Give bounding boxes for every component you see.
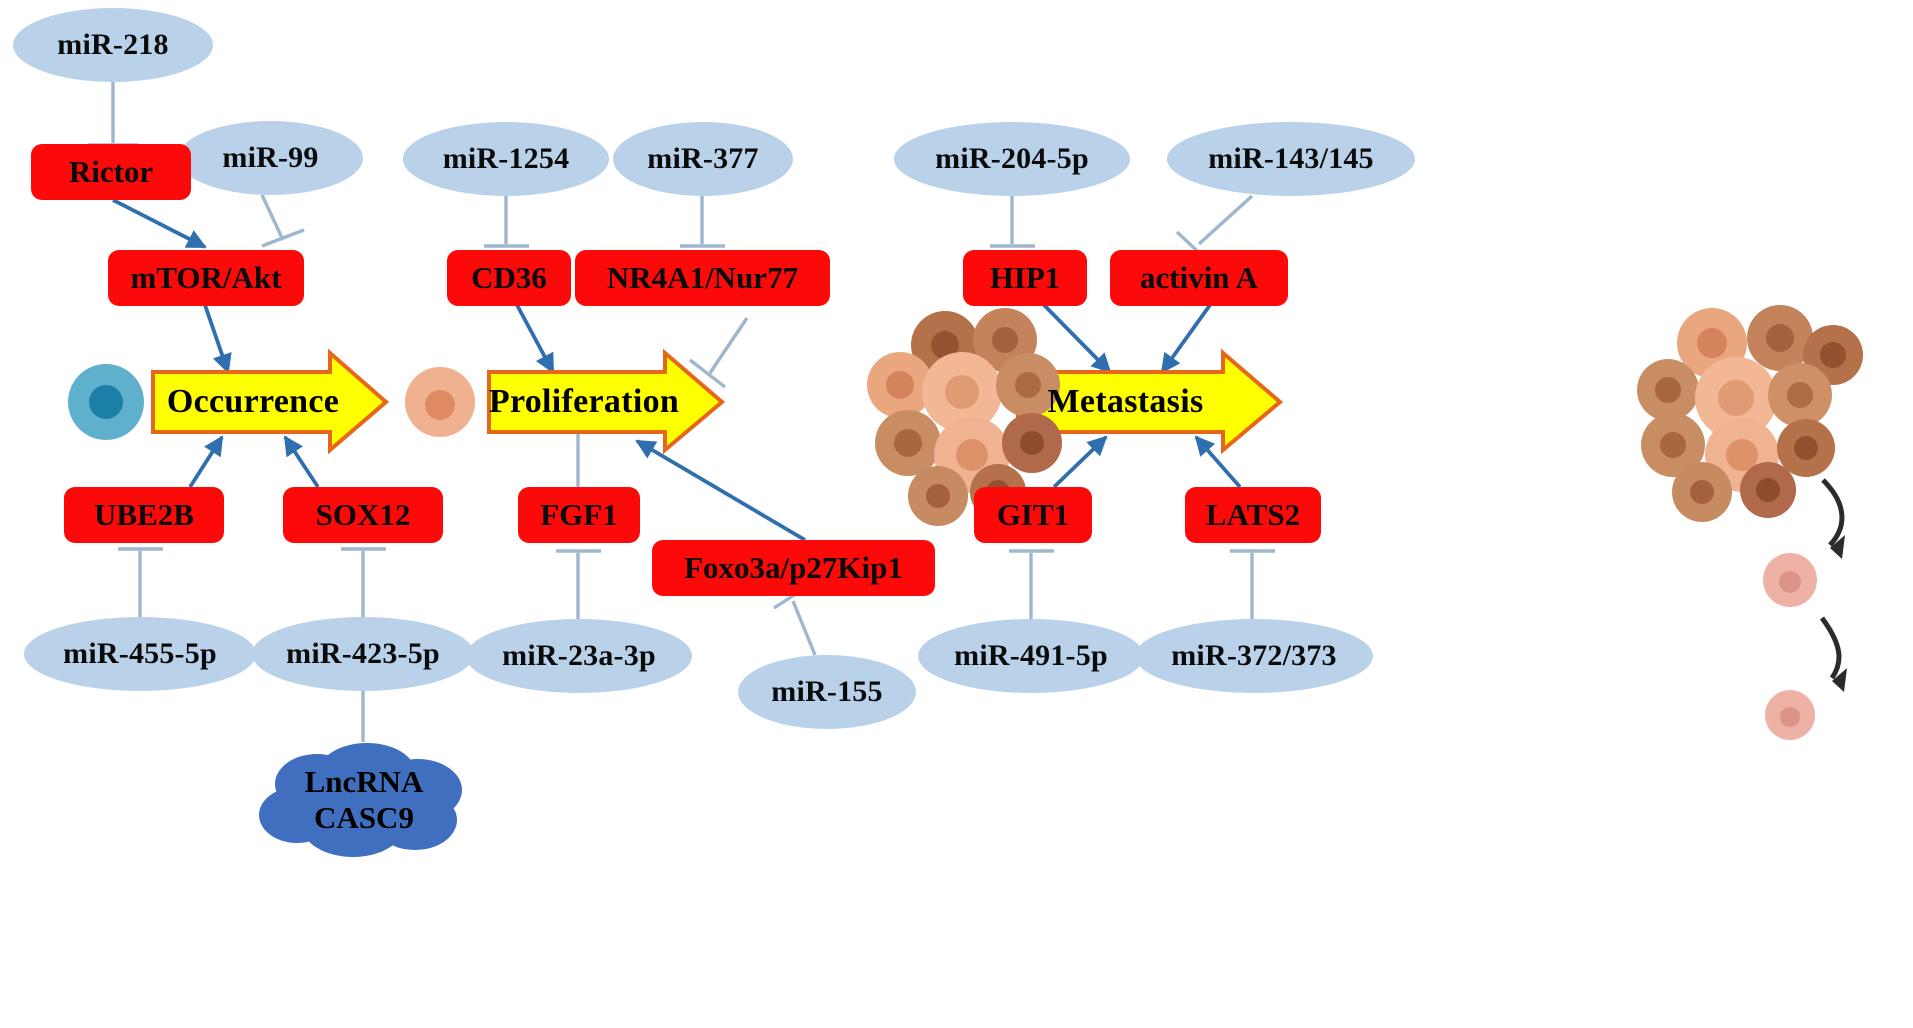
gene-label: LATS2 [1206, 499, 1300, 532]
gene-label: GIT1 [997, 499, 1069, 532]
mirna-mir-491-5p[interactable]: miR-491-5p [918, 619, 1144, 693]
mirna-label: miR-204-5p [935, 143, 1089, 175]
gene-foxo3a-p27kip1[interactable]: Foxo3a/p27Kip1 [652, 540, 935, 596]
mirna-mir-372-373[interactable]: miR-372/373 [1135, 619, 1373, 693]
process-proliferation[interactable]: Proliferation [489, 375, 679, 429]
mirna-mir-99[interactable]: miR-99 [178, 121, 363, 195]
mirna-mir-204-5p[interactable]: miR-204-5p [894, 122, 1130, 196]
gene-label: NR4A1/Nur77 [607, 262, 798, 295]
gene-label: SOX12 [316, 499, 411, 532]
gene-label: CD36 [471, 262, 547, 295]
gene-label: Rictor [69, 156, 153, 189]
mirna-mir-23a-3p[interactable]: miR-23a-3p [466, 619, 692, 693]
mirna-mir-1254[interactable]: miR-1254 [403, 122, 609, 196]
transformed-cell [405, 367, 475, 437]
gene-label: UBE2B [94, 499, 194, 532]
mirna-label: miR-1254 [443, 143, 570, 175]
gene-lats2[interactable]: LATS2 [1185, 487, 1321, 543]
mirna-label: miR-491-5p [954, 640, 1108, 672]
process-occurrence[interactable]: Occurrence [153, 375, 353, 429]
disseminated-cell-1 [1763, 553, 1817, 607]
gene-mtor-akt[interactable]: mTOR/Akt [108, 250, 304, 306]
lncrna-line-2: CASC9 [314, 800, 414, 836]
gene-label: mTOR/Akt [130, 262, 281, 295]
mirna-mir-218[interactable]: miR-218 [13, 8, 213, 82]
gene-hip1[interactable]: HIP1 [963, 250, 1087, 306]
dissemination-arrows [1822, 480, 1842, 678]
mirna-mir-455-5p[interactable]: miR-455-5p [24, 617, 256, 691]
gene-label: FGF1 [540, 499, 618, 532]
process-metastasis-label: Metastasis [1048, 383, 1204, 421]
gene-nr4a1-nur77[interactable]: NR4A1/Nur77 [575, 250, 830, 306]
mirna-label: miR-423-5p [286, 638, 440, 670]
gene-rictor[interactable]: Rictor [31, 144, 191, 200]
lncrna-label-wrap: LncRNA CASC9 [255, 740, 473, 860]
process-proliferation-label: Proliferation [489, 383, 679, 421]
gene-label: HIP1 [990, 262, 1061, 295]
gene-cd36[interactable]: CD36 [447, 250, 571, 306]
mirna-mir-377[interactable]: miR-377 [613, 122, 793, 196]
gene-ube2b[interactable]: UBE2B [64, 487, 224, 543]
mirna-label: miR-218 [57, 29, 168, 61]
process-metastasis[interactable]: Metastasis [1018, 375, 1233, 429]
process-occurrence-label: Occurrence [167, 383, 339, 421]
mirna-label: miR-377 [647, 143, 758, 175]
mirna-label: miR-23a-3p [502, 640, 656, 672]
gene-activin-a[interactable]: activin A [1110, 250, 1288, 306]
disseminated-cell-2 [1765, 690, 1815, 740]
pathway-diagram: Occurrence Proliferation Metastasis miR-… [0, 0, 1913, 1028]
gene-git1[interactable]: GIT1 [974, 487, 1092, 543]
mirna-label: miR-455-5p [63, 638, 217, 670]
gene-label: activin A [1140, 262, 1258, 295]
mirna-label: miR-143/145 [1208, 143, 1374, 175]
normal-cell [68, 364, 144, 440]
lncrna-line-1: LncRNA [305, 764, 424, 800]
mirna-label: miR-372/373 [1171, 640, 1337, 672]
gene-label: Foxo3a/p27Kip1 [684, 552, 903, 585]
mirna-mir-143-145[interactable]: miR-143/145 [1167, 122, 1415, 196]
gene-sox12[interactable]: SOX12 [283, 487, 443, 543]
gene-fgf1[interactable]: FGF1 [518, 487, 640, 543]
mirna-label: miR-99 [222, 142, 318, 174]
mirna-mir-423-5p[interactable]: miR-423-5p [252, 617, 474, 691]
mirna-label: miR-155 [771, 676, 882, 708]
lncrna-casc9[interactable]: LncRNA CASC9 [255, 740, 473, 860]
mirna-mir-155[interactable]: miR-155 [738, 655, 916, 729]
